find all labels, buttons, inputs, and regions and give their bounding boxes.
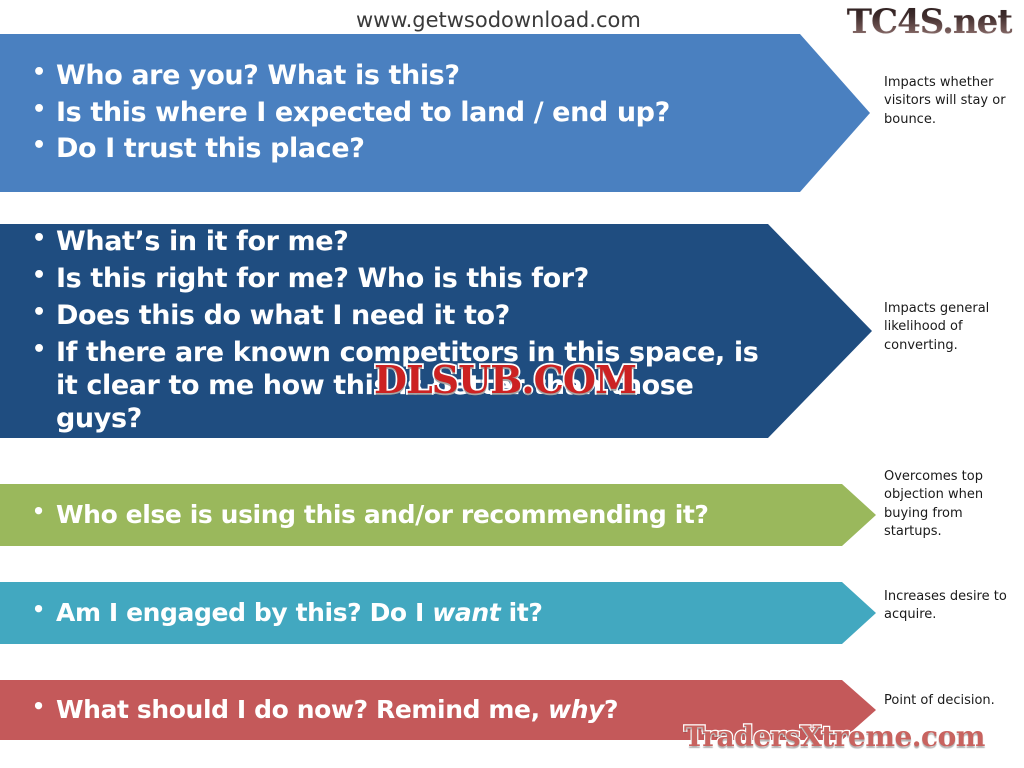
annotation-1: Impacts whether visitors will stay or bo…: [884, 74, 1018, 129]
arrow-bullet-list-1: Who are you? What is this? Is this where…: [14, 60, 870, 167]
annotation-5: Point of decision.: [884, 692, 1018, 710]
tradersxtreme-watermark: TradersXtreme.com: [684, 720, 985, 753]
arrow-bullet-list-3: Who else is using this and/or recommendi…: [14, 500, 876, 531]
arrow-banner-3: Who else is using this and/or recommendi…: [0, 484, 876, 546]
arrow-text-4: Am I engaged by this? Do I want it?: [0, 598, 876, 629]
top-url-watermark: www.getwsodownload.com: [356, 8, 641, 32]
list-item: Who else is using this and/or recommendi…: [32, 500, 876, 531]
tc4s-logo-watermark: TC4S.net: [847, 2, 1012, 42]
annotation-4: Increases desire to acquire.: [884, 588, 1018, 625]
arrow-banner-4: Am I engaged by this? Do I want it?: [0, 582, 876, 644]
list-item: Do I trust this place?: [32, 133, 870, 166]
slide-canvas: www.getwsodownload.com TC4S.net Who are …: [0, 0, 1024, 768]
dlsub-watermark: DLSUB.COM: [374, 357, 636, 402]
arrow-bullet-list-2: What’s in it for me? Is this right for m…: [14, 226, 872, 436]
annotation-2: Impacts general likelihood of converting…: [884, 300, 1018, 355]
list-item: Does this do what I need it to?: [32, 300, 872, 333]
arrow-bullet-list-4: Am I engaged by this? Do I want it?: [14, 598, 876, 629]
arrow-text-1: Who are you? What is this? Is this where…: [0, 60, 870, 167]
arrow-banner-1: Who are you? What is this? Is this where…: [0, 34, 870, 192]
arrow-text-3: Who else is using this and/or recommendi…: [0, 500, 876, 531]
list-item: Am I engaged by this? Do I want it?: [32, 598, 876, 629]
list-item: Who are you? What is this?: [32, 60, 870, 93]
annotation-3: Overcomes top objection when buying from…: [884, 468, 1018, 542]
list-item: Is this where I expected to land / end u…: [32, 97, 870, 130]
list-item: Is this right for me? Who is this for?: [32, 263, 872, 296]
list-item: What’s in it for me?: [32, 226, 872, 259]
arrow-banner-2: What’s in it for me? Is this right for m…: [0, 224, 872, 438]
arrow-text-2: What’s in it for me? Is this right for m…: [0, 226, 872, 436]
